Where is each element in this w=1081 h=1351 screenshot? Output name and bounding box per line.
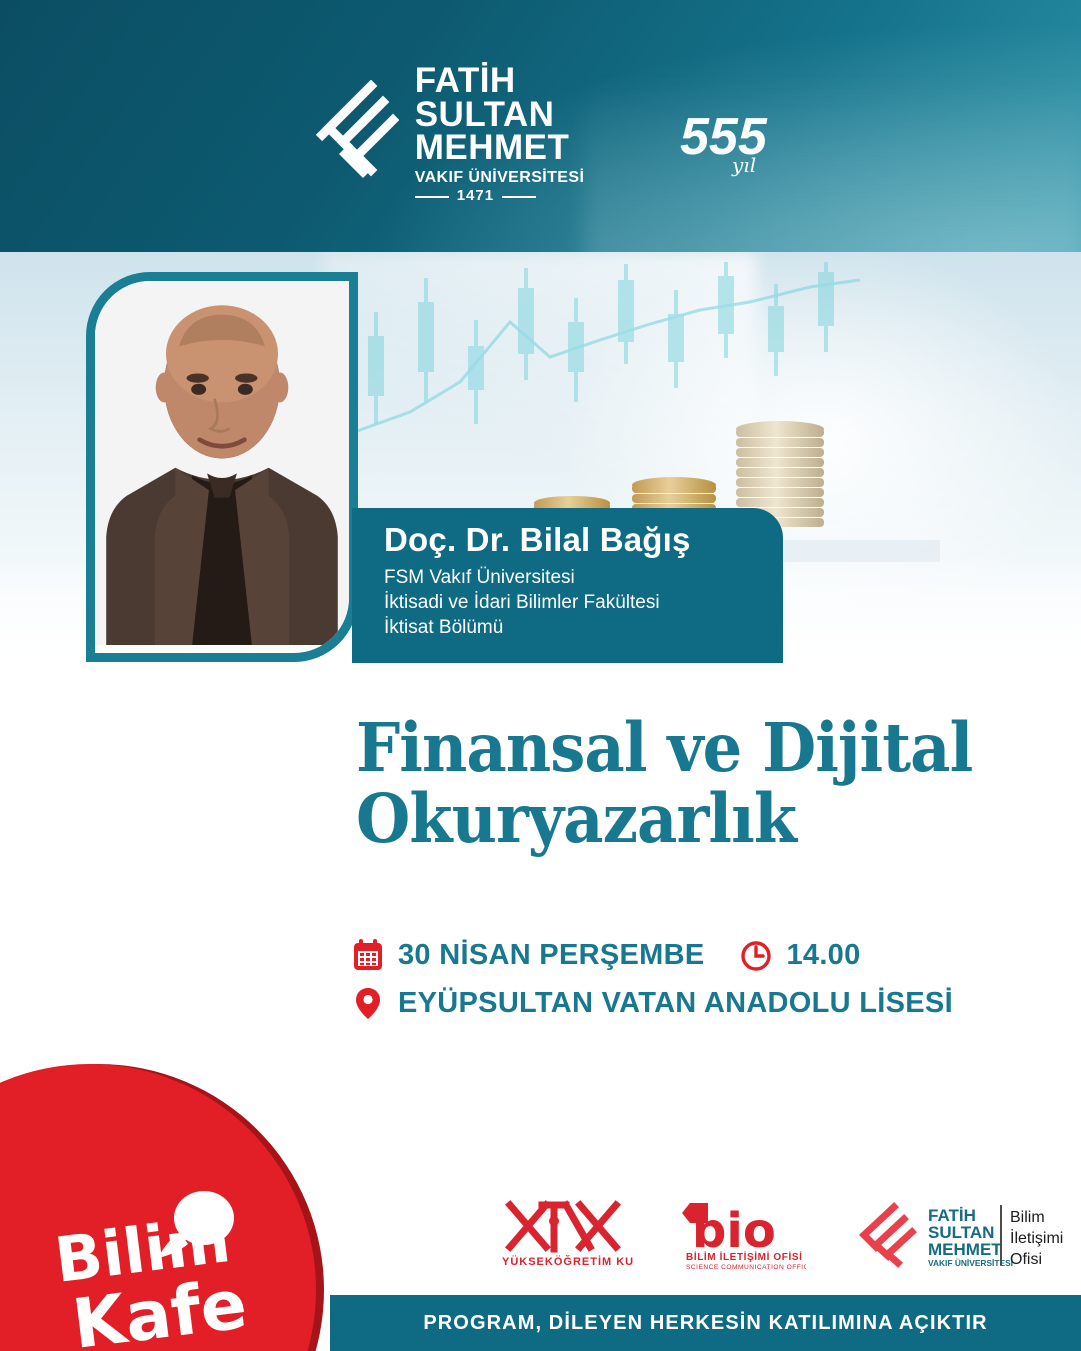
location-pin-icon xyxy=(352,986,384,1020)
event-title-line2: Okuryazarlık xyxy=(356,783,1007,854)
bio-caption-tr: BİLİM İLETİŞİMİ OFİSİ xyxy=(686,1250,803,1263)
footer-notice: PROGRAM, DİLEYEN HERKESİN KATILIMINA AÇI… xyxy=(423,1312,987,1335)
event-time: 14.00 xyxy=(786,939,860,972)
event-date-item: 30 NİSAN PERŞEMBE xyxy=(352,938,704,972)
bio-wordmark: bio xyxy=(692,1203,776,1259)
event-title: Finansal ve Dijital Okuryazarlık xyxy=(356,712,1007,854)
fsm-logo-icon xyxy=(313,80,399,188)
university-line3: MEHMET xyxy=(415,131,585,165)
event-venue: EYÜPSULTAN VATAN ANADOLU LİSESİ xyxy=(398,987,953,1020)
event-poster: FATİH SULTAN MEHMET VAKIF ÜNİVERSİTESİ 1… xyxy=(0,0,1081,1351)
speaker-portrait xyxy=(95,281,349,645)
office-line2: İletişimi xyxy=(1010,1228,1063,1247)
partner-logo-bio: bio BİLİM İLETİŞİMİ OFİSİ SCIENCE COMMUN… xyxy=(678,1197,806,1273)
crescent-555-icon: 555 yıl xyxy=(628,72,768,197)
event-date: 30 NİSAN PERŞEMBE xyxy=(398,939,704,972)
anniversary-number: 555 xyxy=(680,108,768,166)
speaker-affiliation-line1: FSM Vakıf Üniversitesi xyxy=(384,565,783,590)
bilim-kafe-badge: Bilim Kafe xyxy=(0,1064,316,1351)
founded-rule: 1471 xyxy=(415,189,585,203)
founded-year: 1471 xyxy=(457,189,494,203)
yok-monogram-icon: YÜKSEKÖĞRETİM KURULU xyxy=(494,1199,634,1271)
office-line1: Bilim xyxy=(1010,1209,1045,1226)
university-line1: FATİH xyxy=(415,64,585,98)
fsm-partner-line3: MEHMET xyxy=(928,1240,1002,1259)
speaker-info-panel: Doç. Dr. Bilal Bağış FSM Vakıf Üniversit… xyxy=(352,508,783,663)
speaker-photo-frame xyxy=(86,272,358,662)
footer-notice-bar: PROGRAM, DİLEYEN HERKESİN KATILIMINA AÇI… xyxy=(330,1295,1081,1351)
university-subtitle: VAKIF ÜNİVERSİTESİ xyxy=(415,170,585,185)
office-line3: Ofisi xyxy=(1010,1251,1042,1268)
speaker-affiliation-line2: İktisadi ve İdari Bilimler Fakültesi xyxy=(384,590,783,615)
bio-wordmark-icon: bio BİLİM İLETİŞİMİ OFİSİ SCIENCE COMMUN… xyxy=(678,1197,806,1273)
partner-logo-strip: YÜKSEKÖĞRETİM KURULU bio BİLİM İLETİŞİMİ… xyxy=(494,1192,1034,1278)
speaker-name: Doç. Dr. Bilal Bağış xyxy=(384,522,783,558)
clock-icon xyxy=(740,938,772,972)
yok-caption: YÜKSEKÖĞRETİM KURULU xyxy=(502,1255,634,1268)
event-title-line1: Finansal ve Dijital xyxy=(356,708,972,787)
calendar-icon xyxy=(352,938,384,972)
fsm-logo-icon: FATİH SULTAN MEHMET VAKIF ÜNİVERSİTESİ B… xyxy=(850,1199,1065,1271)
event-venue-item: EYÜPSULTAN VATAN ANADOLU LİSESİ xyxy=(352,986,953,1020)
bilim-kafe-bulb-icon: Bilim Kafe xyxy=(54,1190,284,1351)
event-details: 30 NİSAN PERŞEMBE 14.00 EYÜPSULTAN VATAN… xyxy=(352,938,1052,1034)
anniversary-unit: yıl xyxy=(731,153,756,177)
speaker-affiliation-line3: İktisat Bölümü xyxy=(384,615,783,640)
partner-logo-yok: YÜKSEKÖĞRETİM KURULU xyxy=(494,1199,634,1271)
header-band: FATİH SULTAN MEHMET VAKIF ÜNİVERSİTESİ 1… xyxy=(0,0,1081,268)
partner-logo-fsm-bio: FATİH SULTAN MEHMET VAKIF ÜNİVERSİTESİ B… xyxy=(850,1199,1065,1271)
bio-caption-en: SCIENCE COMMUNICATION OFFICE xyxy=(686,1264,806,1271)
event-time-item: 14.00 xyxy=(740,938,860,972)
university-line2: SULTAN xyxy=(415,98,585,132)
university-logo-lockup: FATİH SULTAN MEHMET VAKIF ÜNİVERSİTESİ 1… xyxy=(313,64,585,204)
